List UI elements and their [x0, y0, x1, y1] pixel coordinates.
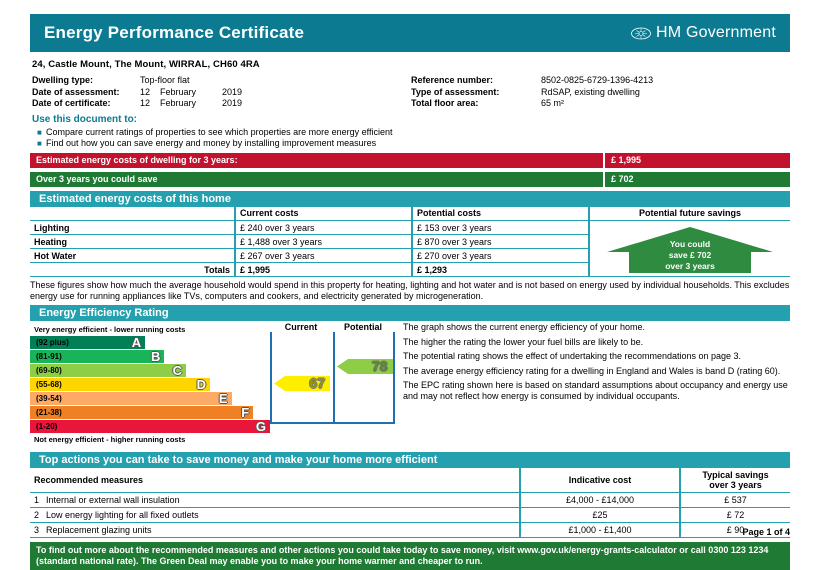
potential-rating-panel: 78 — [333, 332, 394, 422]
col-header-current-rating: Current — [270, 322, 332, 332]
detail-type-of-assessment: Type of assessment: RdSAP, existing dwel… — [411, 87, 790, 99]
savings-line-2: save £ 702 — [605, 250, 775, 261]
costs-section-title: Estimated energy costs of this home — [30, 191, 790, 207]
eer-band-range: (81-91) — [30, 352, 62, 361]
table-row: Lighting £ 240 over 3 years £ 153 over 3… — [30, 221, 790, 235]
col-header-current: Current costs — [235, 207, 412, 221]
potential-rating-value: 78 — [372, 358, 388, 374]
top-actions-table: Recommended measures Indicative cost Typ… — [30, 468, 790, 538]
measure-label: Replacement glazing units — [46, 525, 152, 535]
measure-number: 2 — [34, 510, 46, 520]
measure-savings: £ 537 — [680, 492, 790, 507]
detail-value: RdSAP, existing dwelling — [541, 87, 640, 99]
measure-label: Low energy lighting for all fixed outlet… — [46, 510, 199, 520]
potential-rating-arrow: 78 — [337, 358, 393, 375]
eer-band-range: (55-68) — [30, 380, 62, 389]
cell-potential: £ 153 over 3 years — [412, 221, 589, 235]
top-actions-title: Top actions you can take to save money a… — [30, 452, 790, 468]
page-header: Energy Performance Certificate HM Govern… — [30, 14, 790, 52]
detail-value: 12February2019 — [140, 87, 242, 99]
eer-band-letter: A — [132, 335, 141, 350]
eer-band-letter: F — [241, 405, 249, 420]
eer-band-b: (81-91)B — [30, 350, 164, 363]
row-label-lighting: Lighting — [30, 221, 235, 235]
cell-potential: £ 870 over 3 years — [412, 235, 589, 249]
table-row: 3Replacement glazing units £1,000 - £1,4… — [30, 522, 790, 537]
estimated-cost-amount: £ 1,995 — [603, 153, 790, 168]
eer-paragraph-4: The average energy efficiency rating for… — [403, 366, 790, 377]
eer-band-a: (92 plus)A — [30, 336, 145, 349]
detail-label: Date of certificate: — [32, 98, 140, 110]
eer-paragraph-2: The higher the rating the lower your fue… — [403, 337, 790, 348]
col-header-potential-rating: Potential — [332, 322, 394, 332]
table-row: 1Internal or external wall insulation £4… — [30, 492, 790, 507]
detail-label: Date of assessment: — [32, 87, 140, 99]
certificate-details: Dwelling type: Top-floor flat Date of as… — [32, 75, 790, 110]
table-header-row: Recommended measures Indicative cost Typ… — [30, 468, 790, 493]
col-header-savings: Potential future savings — [589, 207, 790, 221]
savings-line-1: You could — [605, 239, 775, 250]
measure-cost: £25 — [520, 507, 680, 522]
totals-potential: £ 1,293 — [412, 263, 589, 277]
cell-current: £ 267 over 3 years — [235, 249, 412, 263]
savings-line-3: over 3 years — [605, 261, 775, 272]
cell-current: £ 1,488 over 3 years — [235, 235, 412, 249]
eer-band-letter: D — [197, 377, 206, 392]
list-item: ■ Compare current ratings of properties … — [32, 127, 790, 138]
certificate-month: February — [160, 98, 222, 110]
royal-crest-icon — [631, 26, 651, 41]
eer-rating-box: 67 78 — [270, 332, 395, 424]
house-savings-badge: You could save £ 702 over 3 years — [605, 225, 775, 275]
eer-column-headers: Current Potential — [270, 322, 395, 332]
eer-explanation: The graph shows the current energy effic… — [395, 322, 790, 446]
savings-badge-cell: You could save £ 702 over 3 years — [589, 221, 790, 277]
measure-cell: 3Replacement glazing units — [30, 522, 520, 537]
eer-band-range: (69-80) — [30, 366, 62, 375]
measure-cost: £1,000 - £1,400 — [520, 522, 680, 537]
detail-value: 65 m² — [541, 98, 564, 110]
eer-band-list: (92 plus)A(81-91)B(69-80)C(55-68)D(39-54… — [30, 336, 270, 433]
eer-band-range: (1-20) — [30, 422, 57, 431]
estimated-cost-label: Estimated energy costs of dwelling for 3… — [30, 153, 603, 168]
eer-band-d: (55-68)D — [30, 378, 210, 391]
table-header-row: Current costs Potential costs Potential … — [30, 207, 790, 221]
eer-top-caption: Very energy efficient - lower running co… — [34, 325, 270, 334]
detail-label: Reference number: — [411, 75, 541, 87]
measure-label: Internal or external wall insulation — [46, 495, 180, 505]
detail-dwelling-type: Dwelling type: Top-floor flat — [32, 75, 411, 87]
table-row: 2Low energy lighting for all fixed outle… — [30, 507, 790, 522]
property-address: 24, Castle Mount, The Mount, WIRRAL, CH6… — [32, 59, 790, 70]
use-document-title: Use this document to: — [32, 114, 790, 125]
page-title: Energy Performance Certificate — [44, 23, 304, 43]
eer-band-f: (21-38)F — [30, 406, 253, 419]
row-label-hot-water: Hot Water — [30, 249, 235, 263]
row-label-heating: Heating — [30, 235, 235, 249]
hm-government-logo: HM Government — [631, 24, 776, 42]
eer-ratings-column: Current Potential 67 — [270, 322, 395, 446]
energy-costs-table: Current costs Potential costs Potential … — [30, 207, 790, 278]
eer-band-letter: C — [173, 363, 182, 378]
eer-band-range: (92 plus) — [30, 338, 69, 347]
assessment-day: 12 — [140, 87, 160, 99]
potential-saving-label: Over 3 years you could save — [30, 172, 603, 187]
col-header-potential: Potential costs — [412, 207, 589, 221]
eer-band-range: (21-38) — [30, 408, 62, 417]
detail-label: Type of assessment: — [411, 87, 541, 99]
current-rating-value: 67 — [309, 375, 325, 391]
potential-saving-amount: £ 702 — [603, 172, 790, 187]
measure-number: 3 — [34, 525, 46, 535]
detail-date-of-certificate: Date of certificate: 12February2019 — [32, 98, 411, 110]
list-item-label: Find out how you can save energy and mon… — [46, 138, 376, 149]
measure-cost: £4,000 - £14,000 — [520, 492, 680, 507]
epc-page: Energy Performance Certificate HM Govern… — [0, 0, 820, 547]
detail-date-of-assessment: Date of assessment: 12February2019 — [32, 87, 411, 99]
list-item-label: Compare current ratings of properties to… — [46, 127, 393, 138]
page-number: Page 1 of 4 — [742, 527, 790, 537]
measure-number: 1 — [34, 495, 46, 505]
eer-paragraph-1: The graph shows the current energy effic… — [403, 322, 790, 333]
detail-value: 12February2019 — [140, 98, 242, 110]
certificate-day: 12 — [140, 98, 160, 110]
list-item: ■ Find out how you can save energy and m… — [32, 138, 790, 149]
details-left-column: Dwelling type: Top-floor flat Date of as… — [32, 75, 411, 110]
detail-label: Total floor area: — [411, 98, 541, 110]
cell-potential: £ 270 over 3 years — [412, 249, 589, 263]
estimated-cost-bar: Estimated energy costs of dwelling for 3… — [30, 153, 790, 168]
detail-label: Dwelling type: — [32, 75, 140, 87]
eer-paragraph-3: The potential rating shows the effect of… — [403, 351, 790, 362]
col-header-blank — [30, 207, 235, 221]
measure-cell: 1Internal or external wall insulation — [30, 492, 520, 507]
eer-band-letter: G — [256, 419, 266, 434]
energy-efficiency-rating-chart: Very energy efficient - lower running co… — [30, 322, 790, 446]
eer-band-range: (39-54) — [30, 394, 62, 403]
detail-total-floor-area: Total floor area: 65 m² — [411, 98, 790, 110]
col-header-cost: Indicative cost — [520, 468, 680, 493]
measure-cell: 2Low energy lighting for all fixed outle… — [30, 507, 520, 522]
eer-bottom-caption: Not energy efficient - higher running co… — [34, 435, 270, 444]
col-header-savings-line2: over 3 years — [685, 480, 786, 490]
eer-band-letter: E — [219, 391, 228, 406]
eer-bands-column: Very energy efficient - lower running co… — [30, 322, 270, 446]
eer-band-c: (69-80)C — [30, 364, 186, 377]
savings-badge-text: You could save £ 702 over 3 years — [605, 239, 775, 272]
detail-reference-number: Reference number: 8502-0825-6729-1396-42… — [411, 75, 790, 87]
bullet-square-icon: ■ — [32, 127, 46, 138]
col-header-measures: Recommended measures — [30, 468, 520, 493]
hm-government-label: HM Government — [656, 24, 776, 42]
assessment-year: 2019 — [222, 87, 242, 97]
col-header-savings: Typical savings over 3 years — [680, 468, 790, 493]
detail-value: 8502-0825-6729-1396-4213 — [541, 75, 653, 87]
cell-current: £ 240 over 3 years — [235, 221, 412, 235]
measure-savings: £ 72 — [680, 507, 790, 522]
assessment-month: February — [160, 87, 222, 99]
potential-saving-bar: Over 3 years you could save £ 702 — [30, 172, 790, 187]
eer-section-title: Energy Efficiency Rating — [30, 305, 790, 321]
certificate-year: 2019 — [222, 98, 242, 108]
details-right-column: Reference number: 8502-0825-6729-1396-42… — [411, 75, 790, 110]
col-header-savings-line1: Typical savings — [685, 470, 786, 480]
current-rating-arrow: 67 — [274, 375, 330, 392]
detail-value: Top-floor flat — [140, 75, 190, 87]
eer-band-letter: B — [151, 349, 160, 364]
costs-explanatory-note: These figures show how much the average … — [30, 280, 790, 301]
current-rating-panel: 67 — [272, 332, 333, 422]
eer-band-g: (1-20)G — [30, 420, 270, 433]
eer-band-e: (39-54)E — [30, 392, 232, 405]
green-deal-note: To find out more about the recommended m… — [30, 542, 790, 570]
totals-current: £ 1,995 — [235, 263, 412, 277]
bullet-square-icon: ■ — [32, 138, 46, 149]
eer-paragraph-5: The EPC rating shown here is based on st… — [403, 380, 790, 401]
use-document-list: ■ Compare current ratings of properties … — [32, 127, 790, 149]
totals-label: Totals — [30, 263, 235, 277]
